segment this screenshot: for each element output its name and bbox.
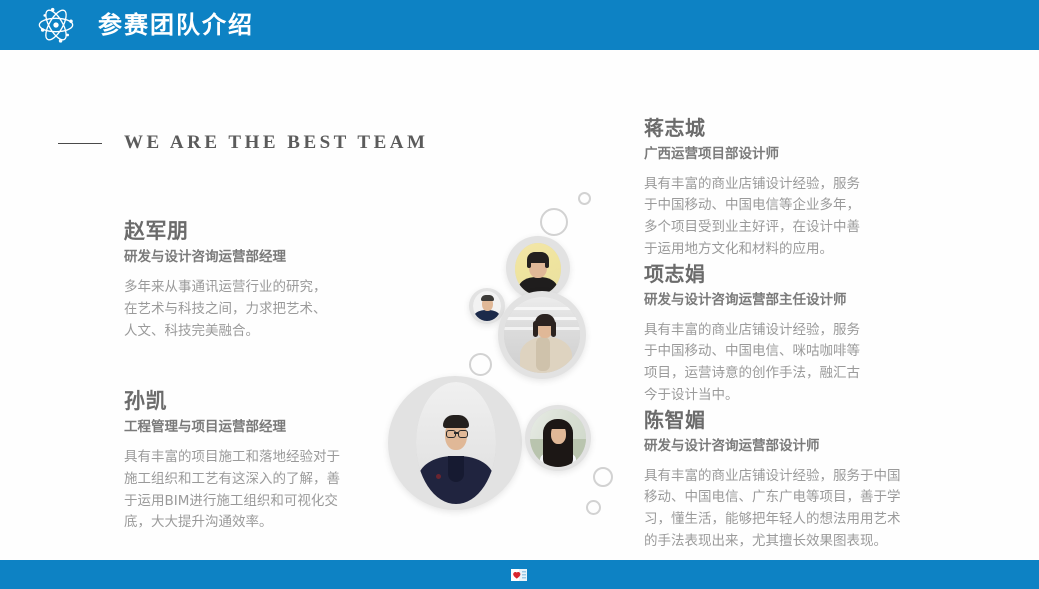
decorative-ring-icon [540,208,568,236]
person-description: 多年来从事通讯运营行业的研究， 在艺术与科技之间，力求把艺术、 人文、科技完美融… [124,277,364,343]
atom-icon [36,5,76,45]
person-name: 项志娟 [644,262,944,287]
portrait-young-man-yellow-bg [515,243,561,295]
person-card-chen-zhimei: 陈智媚 研发与设计咨询运营部设计师 具有丰富的商业店铺设计经验，服务于中国 移动… [644,408,954,553]
portrait-woman-long-hair [530,409,586,467]
decorative-ring-icon [593,467,613,487]
person-card-zhao-junpeng: 赵军朋 研发与设计咨询运营部经理 多年来从事通讯运营行业的研究， 在艺术与科技之… [124,218,364,342]
decorative-ring-icon [578,192,591,205]
person-description: 具有丰富的商业店铺设计经验，服务 于中国移动、中国电信等企业多年， 多个项目受到… [644,174,944,261]
slide-body: WE ARE THE BEST TEAM 赵军朋 研发与设计咨询运营部经理 多年… [0,50,1039,560]
portrait-bubble[interactable] [388,376,522,510]
header-bar: 参赛团队介绍 [0,0,1039,50]
portrait-bubble[interactable] [525,405,591,471]
header-title: 参赛团队介绍 [98,13,254,37]
portrait-small-man-navy [473,291,501,321]
decorative-ring-icon [469,353,492,376]
person-name: 孙凯 [124,388,374,414]
eyebrow-rule-icon [58,143,102,144]
person-card-jiang-zhicheng: 蒋志城 广西运营项目部设计师 具有丰富的商业店铺设计经验，服务 于中国移动、中国… [644,116,944,261]
person-role: 工程管理与项目运营部经理 [124,419,374,437]
person-card-sun-kai: 孙凯 工程管理与项目运营部经理 具有丰富的项目施工和落地经验对于 施工组织和工艺… [124,388,374,534]
person-card-xiang-zhijuan: 项志娟 研发与设计咨询运营部主任设计师 具有丰富的商业店铺设计经验，服务 于中国… [644,262,944,407]
decorative-ring-icon [586,500,601,515]
person-name: 蒋志城 [644,116,944,141]
photo-cluster [380,130,640,540]
person-role: 广西运营项目部设计师 [644,146,944,164]
portrait-large-male-glasses [416,382,496,504]
brand-logo-icon[interactable] [508,566,530,584]
section-eyebrow: WE ARE THE BEST TEAM [58,132,428,154]
person-role: 研发与设计咨询运营部主任设计师 [644,292,944,310]
person-role: 研发与设计咨询运营部设计师 [644,438,954,456]
person-name: 赵军朋 [124,218,364,244]
person-description: 具有丰富的商业店铺设计经验，服务 于中国移动、中国电信、咪咕咖啡等 项目，运营诗… [644,320,944,407]
portrait-bubble[interactable] [498,291,586,379]
portrait-bubble[interactable] [469,288,505,324]
person-name: 陈智媚 [644,408,954,433]
person-description: 具有丰富的项目施工和落地经验对于 施工组织和工艺有这深入的了解，善 于运用BIM… [124,447,374,534]
portrait-woman-beige-coat [504,297,580,373]
person-description: 具有丰富的商业店铺设计经验，服务于中国 移动、中国电信、广东广电等项目，善于学 … [644,466,954,553]
person-role: 研发与设计咨询运营部经理 [124,249,364,267]
